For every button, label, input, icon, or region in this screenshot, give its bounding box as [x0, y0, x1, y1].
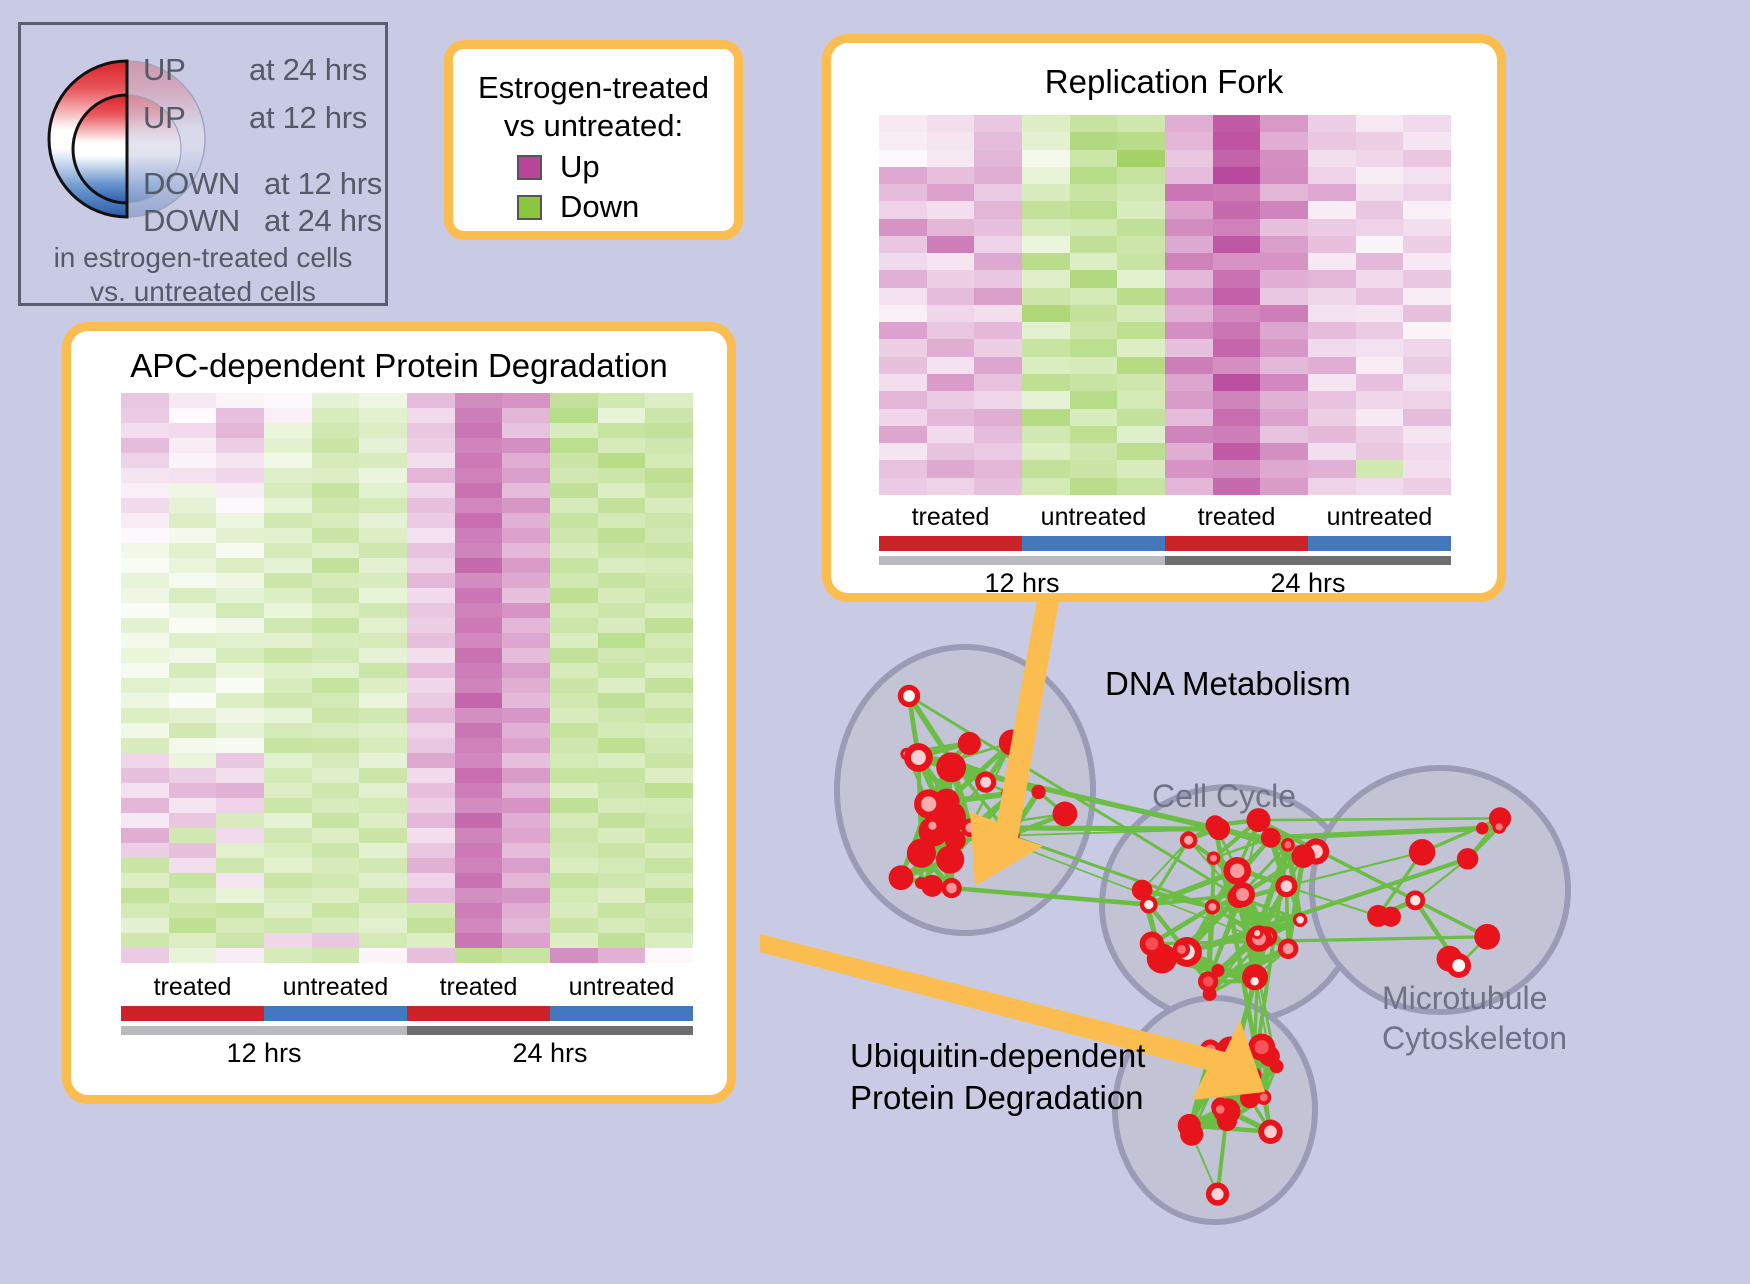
heatmap-cell [1117, 460, 1165, 477]
heatmap-cell [502, 633, 550, 648]
heatmap-cell [645, 603, 693, 618]
heatmap-cell [550, 558, 598, 573]
network-node[interactable] [1140, 896, 1158, 914]
heatmap-row [121, 543, 693, 558]
heatmap-cell [407, 813, 455, 828]
ring-time-down-12: at 12 hrs [264, 166, 382, 202]
heatmap-cell [121, 753, 169, 768]
heatmap-cell [264, 393, 312, 408]
heatmap-row [121, 633, 693, 648]
heatmap-cell [1165, 288, 1213, 305]
heatmap-cell [1213, 115, 1261, 132]
node-outer-ring [1180, 1123, 1203, 1146]
heatmap-cell [598, 873, 646, 888]
heatmap-cell [455, 468, 503, 483]
node-outer-ring [958, 732, 981, 755]
heatmap-cell [598, 393, 646, 408]
heatmap-cell [312, 873, 360, 888]
heatmap-cell [312, 738, 360, 753]
heatmap-row [879, 184, 1451, 201]
heatmap-cell [407, 858, 455, 873]
heatmap-cell [407, 483, 455, 498]
heatmap-cell [1403, 426, 1451, 443]
heatmap-cell [312, 678, 360, 693]
network-node[interactable] [1270, 1059, 1284, 1073]
network-node[interactable] [914, 789, 943, 818]
heatmap-cell [407, 633, 455, 648]
heatmap-cell [1165, 201, 1213, 218]
network-node[interactable] [1261, 828, 1281, 848]
heatmap-cell [550, 483, 598, 498]
heatmap-cell [1022, 270, 1070, 287]
network-node[interactable] [936, 845, 964, 873]
heatmap-cell [974, 391, 1022, 408]
panel-title-replication: Replication Fork [831, 63, 1497, 101]
heatmap-cell [359, 678, 407, 693]
heatmap-row [121, 753, 693, 768]
node-outer-ring [1291, 844, 1315, 868]
heatmap-row [121, 888, 693, 903]
heatmap-cell [1308, 132, 1356, 149]
heatmap-cell [264, 558, 312, 573]
heatmap-cell [216, 438, 264, 453]
heatmap-cell [169, 843, 217, 858]
network-diagram: DNA Metabolism Cell Cycle Microtubule Cy… [760, 600, 1750, 1279]
heatmap-cell [359, 738, 407, 753]
heatmap-cell [455, 903, 503, 918]
heatmap-cell [1260, 322, 1308, 339]
heatmap-cell [879, 184, 927, 201]
heatmap-row [879, 201, 1451, 218]
heatmap-cell [359, 558, 407, 573]
heatmap-cell [312, 543, 360, 558]
heatmap-cell [550, 663, 598, 678]
heatmap-cell [169, 678, 217, 693]
network-node[interactable] [1140, 932, 1164, 956]
heatmap-cell [407, 393, 455, 408]
heatmap-cell [359, 693, 407, 708]
heatmap-cell [502, 858, 550, 873]
heatmap-cell [502, 738, 550, 753]
heatmap-cell [598, 573, 646, 588]
heatmap-cell [1308, 150, 1356, 167]
heatmap-cell [407, 558, 455, 573]
heatmap-cell [927, 443, 975, 460]
heatmap-cell [264, 468, 312, 483]
heatmap-cell [121, 498, 169, 513]
heatmap-cell [974, 132, 1022, 149]
heatmap-cell [359, 708, 407, 723]
heatmap-cell [169, 498, 217, 513]
heatmap-cell [407, 693, 455, 708]
heatmap-cell [455, 798, 503, 813]
heatmap-cell [1356, 150, 1404, 167]
heatmap-cell [359, 573, 407, 588]
heatmap-cell [1213, 305, 1261, 322]
heatmap-cell [169, 948, 217, 963]
network-node[interactable] [945, 830, 966, 851]
heatmap-row [879, 219, 1451, 236]
heatmap-cell [1356, 115, 1404, 132]
heatmap-row [879, 253, 1451, 270]
heatmap-cell [550, 858, 598, 873]
heatmap-cell [1117, 305, 1165, 322]
network-node[interactable] [1446, 953, 1471, 978]
network-node[interactable] [1198, 971, 1218, 991]
heatmap-cell [598, 888, 646, 903]
heatmap-cell [312, 798, 360, 813]
network-node[interactable] [1291, 844, 1315, 868]
time-color-bar [121, 1026, 407, 1035]
heatmap-cell [502, 918, 550, 933]
heatmap-cell [550, 618, 598, 633]
heatmap-cell [645, 438, 693, 453]
heatmap-cell [312, 513, 360, 528]
ring-time-down-24: at 24 hrs [264, 203, 382, 239]
heatmap-cell [359, 753, 407, 768]
heatmap-cell [359, 798, 407, 813]
heatmap-cell [1070, 305, 1118, 322]
heatmap-cell [407, 888, 455, 903]
heatmap-cell [1117, 236, 1165, 253]
heatmap-cell [645, 393, 693, 408]
heatmap-cell [1022, 426, 1070, 443]
heatmap-cell [974, 253, 1022, 270]
heatmap-cell [645, 873, 693, 888]
heatmap-row [879, 339, 1451, 356]
heatmap-cell [169, 438, 217, 453]
heatmap-row [121, 948, 693, 963]
heatmap-cell [312, 498, 360, 513]
heatmap-cell [455, 843, 503, 858]
heatmap-cell [216, 693, 264, 708]
heatmap-cell [359, 528, 407, 543]
heatmap-cell [121, 693, 169, 708]
heatmap-cell [216, 903, 264, 918]
heatmap-cell [1117, 357, 1165, 374]
heatmap-cell [359, 813, 407, 828]
time-labels-apc: 12 hrs24 hrs [121, 1038, 693, 1069]
heatmap-cell [1022, 409, 1070, 426]
node-core [946, 883, 957, 894]
heatmap-cell [598, 483, 646, 498]
heatmap-cell [550, 723, 598, 738]
network-node[interactable] [907, 839, 936, 868]
heatmap-cell [1070, 409, 1118, 426]
network-node[interactable] [1247, 973, 1263, 989]
node-core [1452, 959, 1465, 972]
heatmap-cell [312, 693, 360, 708]
heatmap-cell [407, 648, 455, 663]
heatmap-cell [550, 903, 598, 918]
network-node[interactable] [1212, 1101, 1228, 1117]
heatmap-row [121, 573, 693, 588]
node-outer-ring [1031, 785, 1045, 799]
network-node[interactable] [915, 877, 927, 889]
heatmap-cell [312, 663, 360, 678]
heatmap-cell [1165, 391, 1213, 408]
heatmap-cell [1117, 409, 1165, 426]
heatmap-cell [264, 768, 312, 783]
heatmap-cell [1356, 219, 1404, 236]
heatmap-cell [645, 648, 693, 663]
network-node[interactable] [1258, 1120, 1282, 1144]
heatmap-cell [1308, 167, 1356, 184]
heatmap-cell [879, 219, 927, 236]
heatmap-cell [645, 753, 693, 768]
heatmap-cell [264, 933, 312, 948]
heatmap-row [879, 426, 1451, 443]
network-node[interactable] [1206, 1182, 1229, 1205]
heatmap-cell [1260, 150, 1308, 167]
network-node[interactable] [975, 772, 996, 793]
network-node[interactable] [1405, 890, 1425, 910]
heatmap-cell [407, 753, 455, 768]
heatmap-row [879, 270, 1451, 287]
heatmap-cell [407, 543, 455, 558]
heatmap-cell [1165, 150, 1213, 167]
network-node[interactable] [941, 878, 961, 898]
heatmap-cell [264, 828, 312, 843]
heatmap-cell [264, 738, 312, 753]
heatmap-cell [598, 738, 646, 753]
heatmap-cell [598, 903, 646, 918]
heatmap-cell [407, 768, 455, 783]
network-node[interactable] [1207, 851, 1221, 865]
heatmap-cell [502, 588, 550, 603]
network-node[interactable] [898, 685, 920, 707]
heatmap-cell [216, 408, 264, 423]
heatmap-row [121, 408, 693, 423]
heatmap-cell [550, 798, 598, 813]
heatmap-cell [1117, 339, 1165, 356]
heatmap-cell [455, 858, 503, 873]
group-label: untreated [1022, 503, 1165, 532]
network-node[interactable] [1223, 857, 1251, 885]
node-core [1145, 937, 1158, 950]
heatmap-cell [455, 423, 503, 438]
heatmap-cell [169, 903, 217, 918]
updown-title-line1: Estrogen-treated [453, 69, 734, 107]
heatmap-replication: treateduntreatedtreateduntreated 12 hrs2… [879, 115, 1451, 599]
heatmap-cell [216, 558, 264, 573]
network-node[interactable] [1180, 1123, 1203, 1146]
heatmap-cell [312, 633, 360, 648]
heatmap-cell [121, 738, 169, 753]
heatmap-cell [645, 408, 693, 423]
network-node[interactable] [1409, 839, 1435, 865]
heatmap-cell [1117, 374, 1165, 391]
network-node[interactable] [1031, 785, 1045, 799]
heatmap-cell [598, 603, 646, 618]
node-outer-ring [1270, 1059, 1284, 1073]
network-node[interactable] [958, 732, 981, 755]
network-node[interactable] [1205, 899, 1220, 914]
heatmap-cell [879, 132, 927, 149]
heatmap-cell [502, 393, 550, 408]
heatmap-cell [1022, 236, 1070, 253]
network-node[interactable] [944, 754, 958, 768]
heatmap-cell [879, 270, 927, 287]
network-node[interactable] [1275, 875, 1297, 897]
heatmap-cell [169, 633, 217, 648]
time-bar-apc [121, 1026, 693, 1035]
heatmap-cell [1260, 339, 1308, 356]
heatmap-cell [312, 648, 360, 663]
heatmap-row [121, 903, 693, 918]
heatmap-cell [927, 426, 975, 443]
heatmap-cell [1308, 409, 1356, 426]
heatmap-cell [1022, 478, 1070, 495]
heatmap-cell [216, 948, 264, 963]
heatmap-cell [1403, 270, 1451, 287]
heatmap-cell [169, 423, 217, 438]
heatmap-cell [216, 708, 264, 723]
network-node[interactable] [1474, 924, 1500, 950]
heatmap-cell [312, 903, 360, 918]
heatmap-cell [121, 933, 169, 948]
heatmap-row [121, 618, 693, 633]
network-node[interactable] [1251, 927, 1263, 939]
network-node[interactable] [889, 865, 914, 890]
heatmap-cell [121, 393, 169, 408]
heatmap-cell [1165, 374, 1213, 391]
heatmap-cell [169, 723, 217, 738]
heatmap-cell [502, 483, 550, 498]
heatmap-cell [1260, 478, 1308, 495]
heatmap-cell [121, 573, 169, 588]
heatmap-cell [974, 426, 1022, 443]
network-node[interactable] [1476, 822, 1488, 834]
heatmap-cell [1308, 305, 1356, 322]
heatmap-cell [927, 339, 975, 356]
heatmap-cell [1117, 115, 1165, 132]
heatmap-cell [216, 588, 264, 603]
heatmap-cell [1213, 150, 1261, 167]
heatmap-row [121, 438, 693, 453]
heatmap-cell [550, 738, 598, 753]
heatmap-cell [550, 753, 598, 768]
heatmap-cell [974, 288, 1022, 305]
network-label-ubiquitin-line1: Ubiquitin-dependent [850, 1036, 1145, 1076]
heatmap-cell [879, 288, 927, 305]
heatmap-cell [974, 305, 1022, 322]
heatmap-cell [1165, 236, 1213, 253]
panel-apc-degradation: APC-dependent Protein Degradation treate… [62, 322, 736, 1104]
network-node[interactable] [1293, 913, 1307, 927]
heatmap-cell [121, 813, 169, 828]
node-core [1250, 977, 1258, 985]
heatmap-cell [550, 543, 598, 558]
network-label-ubiquitin-line2: Protein Degradation [850, 1078, 1144, 1118]
heatmap-cell [1022, 322, 1070, 339]
group-color-bar [1308, 536, 1451, 551]
node-outer-ring [1261, 828, 1281, 848]
heatmap-cell [216, 783, 264, 798]
heatmap-cell [927, 253, 975, 270]
network-node[interactable] [1052, 801, 1077, 826]
heatmap-cell [216, 543, 264, 558]
heatmap-cell [359, 918, 407, 933]
heatmap-cell [407, 723, 455, 738]
heatmap-cell [927, 357, 975, 374]
network-node[interactable] [1206, 815, 1225, 834]
heatmap-cell [550, 588, 598, 603]
heatmap-cell [1070, 322, 1118, 339]
heatmap-cell [1070, 115, 1118, 132]
heatmap-cell [1117, 478, 1165, 495]
heatmap-cell [169, 543, 217, 558]
heatmap-row [121, 663, 693, 678]
heatmap-cell [1213, 253, 1261, 270]
time-labels-replication: 12 hrs24 hrs [879, 568, 1451, 599]
network-node[interactable] [1281, 838, 1295, 852]
heatmap-cell [121, 768, 169, 783]
network-node[interactable] [904, 743, 933, 772]
heatmap-cell [455, 483, 503, 498]
heatmap-cell [455, 603, 503, 618]
heatmap-cell [879, 374, 927, 391]
network-node[interactable] [1230, 882, 1255, 907]
heatmap-cell [1403, 374, 1451, 391]
heatmap-cell [359, 783, 407, 798]
node-core [1236, 888, 1249, 901]
heatmap-cell [1165, 339, 1213, 356]
heatmap-cell [598, 798, 646, 813]
network-node[interactable] [1173, 941, 1190, 958]
heatmap-cell [1165, 305, 1213, 322]
heatmap-cell [1403, 322, 1451, 339]
heatmap-cell [1260, 409, 1308, 426]
group-color-bar [264, 1006, 407, 1021]
heatmap-row [879, 443, 1451, 460]
group-color-bar [407, 1006, 550, 1021]
heatmap-cell [169, 663, 217, 678]
heatmap-cell [1260, 357, 1308, 374]
heatmap-cell [927, 115, 975, 132]
heatmap-cell [502, 783, 550, 798]
heatmap-cell [645, 678, 693, 693]
heatmap-cell [407, 408, 455, 423]
heatmap-cell [645, 633, 693, 648]
heatmap-row [879, 478, 1451, 495]
network-node[interactable] [925, 818, 941, 834]
network-node[interactable] [1381, 907, 1401, 927]
heatmap-cell [359, 513, 407, 528]
heatmap-cell [598, 783, 646, 798]
heatmap-cell [169, 648, 217, 663]
network-node[interactable] [1492, 820, 1506, 834]
heatmap-cell [1165, 270, 1213, 287]
heatmap-cell [407, 588, 455, 603]
heatmap-cell [598, 438, 646, 453]
heatmap-cell [598, 828, 646, 843]
heatmap-cell [1022, 443, 1070, 460]
heatmap-cell [550, 768, 598, 783]
heatmap-cell [359, 438, 407, 453]
up-swatch-icon [517, 155, 542, 180]
heatmap-row [879, 374, 1451, 391]
group-label: treated [1165, 503, 1308, 532]
network-node[interactable] [1457, 848, 1478, 869]
network-node[interactable] [1180, 831, 1198, 849]
heatmap-cell [1070, 253, 1118, 270]
heatmap-cell [121, 468, 169, 483]
node-core [1296, 916, 1304, 924]
heatmap-cell [312, 573, 360, 588]
network-node[interactable] [1278, 938, 1299, 959]
heatmap-cell [407, 573, 455, 588]
